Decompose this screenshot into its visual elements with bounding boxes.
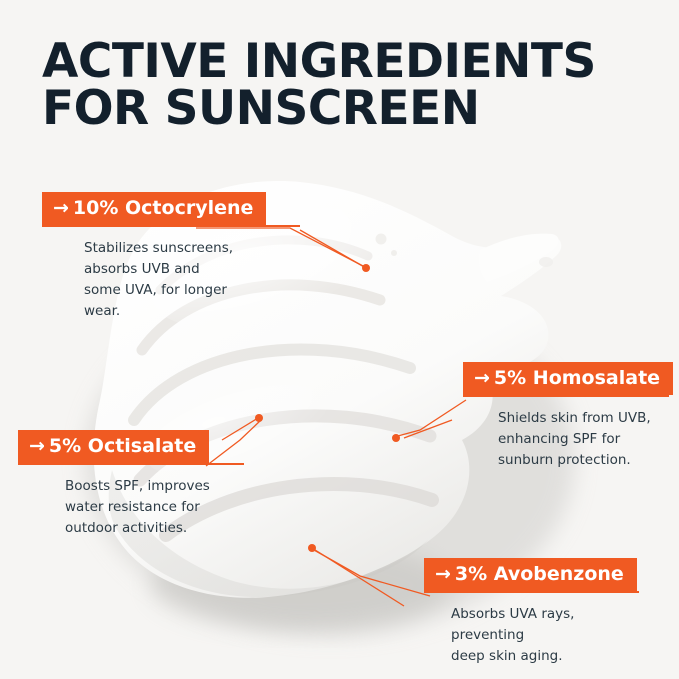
callout-label-text: 3% Avobenzone [455, 563, 624, 585]
arrow-icon: → [29, 435, 45, 457]
callout-label-text: 5% Octisalate [49, 435, 196, 457]
callout-label-text: 5% Homosalate [494, 367, 660, 389]
callout-octisalate: →5% Octisalate Boosts SPF, improves wate… [18, 430, 244, 539]
callout-label-text: 10% Octocrylene [73, 197, 253, 219]
callout-label-octocrylene[interactable]: →10% Octocrylene [42, 192, 266, 225]
callout-rule [42, 225, 300, 227]
callout-rule [463, 395, 669, 397]
callout-label-homosalate[interactable]: →5% Homosalate [463, 362, 673, 395]
callout-description-avobenzone: Absorbs UVA rays, preventing deep skin a… [424, 604, 639, 667]
arrow-icon: → [53, 197, 69, 219]
callout-description-homosalate: Shields skin from UVB, enhancing SPF for… [463, 408, 669, 471]
callout-description-octisalate: Boosts SPF, improves water resistance fo… [18, 476, 244, 539]
callout-label-avobenzone[interactable]: →3% Avobenzone [424, 558, 637, 591]
callout-description-octocrylene: Stabilizes sunscreens, absorbs UVB and s… [42, 238, 300, 322]
callout-octocrylene: →10% Octocrylene Stabilizes sunscreens, … [42, 192, 300, 322]
callout-avobenzone: →3% Avobenzone Absorbs UVA rays, prevent… [424, 558, 639, 667]
arrow-icon: → [435, 563, 451, 585]
callout-homosalate: →5% Homosalate Shields skin from UVB, en… [463, 362, 669, 471]
callout-label-octisalate[interactable]: →5% Octisalate [18, 430, 209, 463]
callout-rule [424, 591, 639, 593]
infographic-page: Active Ingredients for Sunscreen →10% Oc… [0, 0, 679, 679]
page-title: Active Ingredients for Sunscreen [42, 38, 662, 132]
arrow-icon: → [474, 367, 490, 389]
callout-rule [18, 463, 244, 465]
